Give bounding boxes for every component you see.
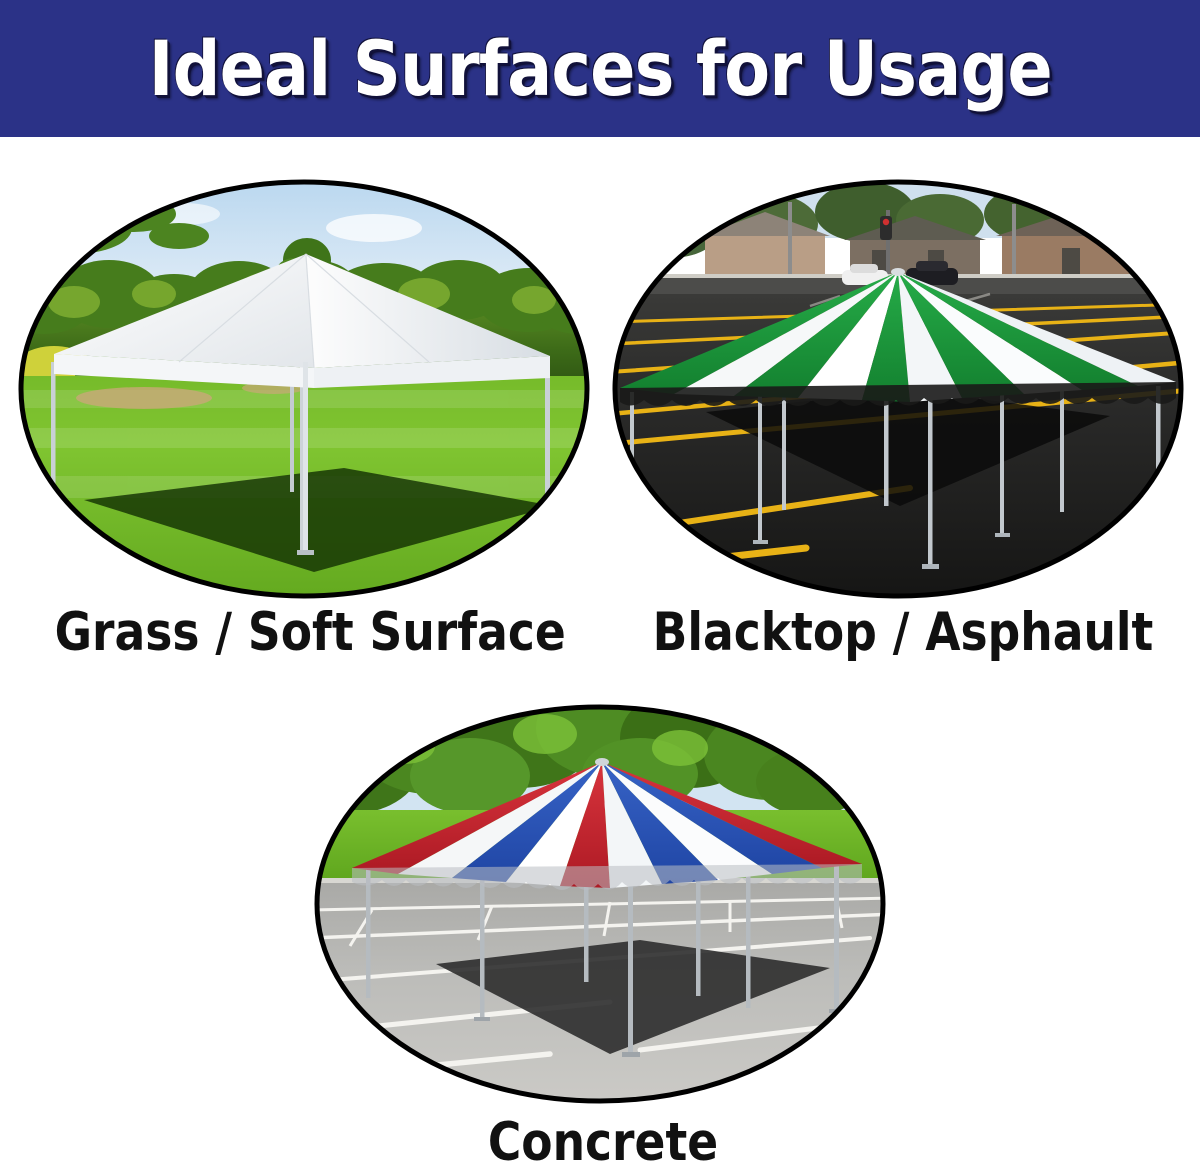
caption-grass: Grass / Soft Surface [55, 606, 554, 659]
grass-scene-svg [14, 176, 594, 602]
tent-leg [290, 374, 294, 492]
tent-peak-cap [595, 758, 609, 766]
tent-center-leg [303, 362, 308, 554]
blacktop-scene-content [610, 176, 1190, 602]
figure-blacktop: Blacktop / Asphault [610, 176, 1196, 676]
dirt-patch [76, 387, 212, 409]
cloud [326, 214, 422, 242]
figure-grass: Grass / Soft Surface [14, 176, 594, 676]
figure-concrete: Concrete [310, 702, 896, 1172]
caption-blacktop: Blacktop / Asphault [651, 606, 1155, 659]
page-title: Ideal Surfaces for Usage [148, 31, 1051, 107]
tent-foot-plate [297, 550, 314, 555]
grass-photo-oval [14, 176, 594, 602]
blacktop-scene-svg [610, 176, 1190, 602]
concrete-photo-oval [310, 702, 896, 1112]
signal-red-light [883, 219, 889, 225]
caption-concrete: Concrete [351, 1116, 855, 1169]
header-banner: Ideal Surfaces for Usage [0, 0, 1200, 137]
concrete-scene-svg [310, 702, 896, 1112]
tent-peak-cap [891, 268, 905, 276]
blacktop-photo-oval [610, 176, 1190, 602]
grass-scene-content [14, 176, 594, 602]
